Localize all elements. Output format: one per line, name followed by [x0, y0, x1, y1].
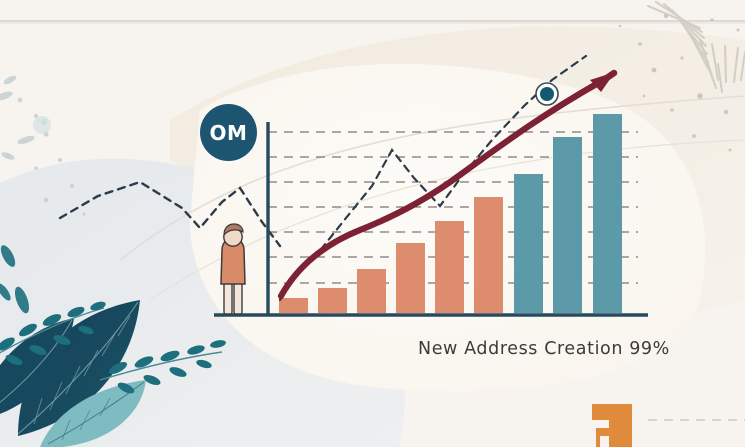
foreground-art	[0, 0, 745, 447]
brand-logo-mark	[592, 404, 632, 447]
illustration-canvas: OM New Address Creation 99%	[0, 0, 745, 447]
